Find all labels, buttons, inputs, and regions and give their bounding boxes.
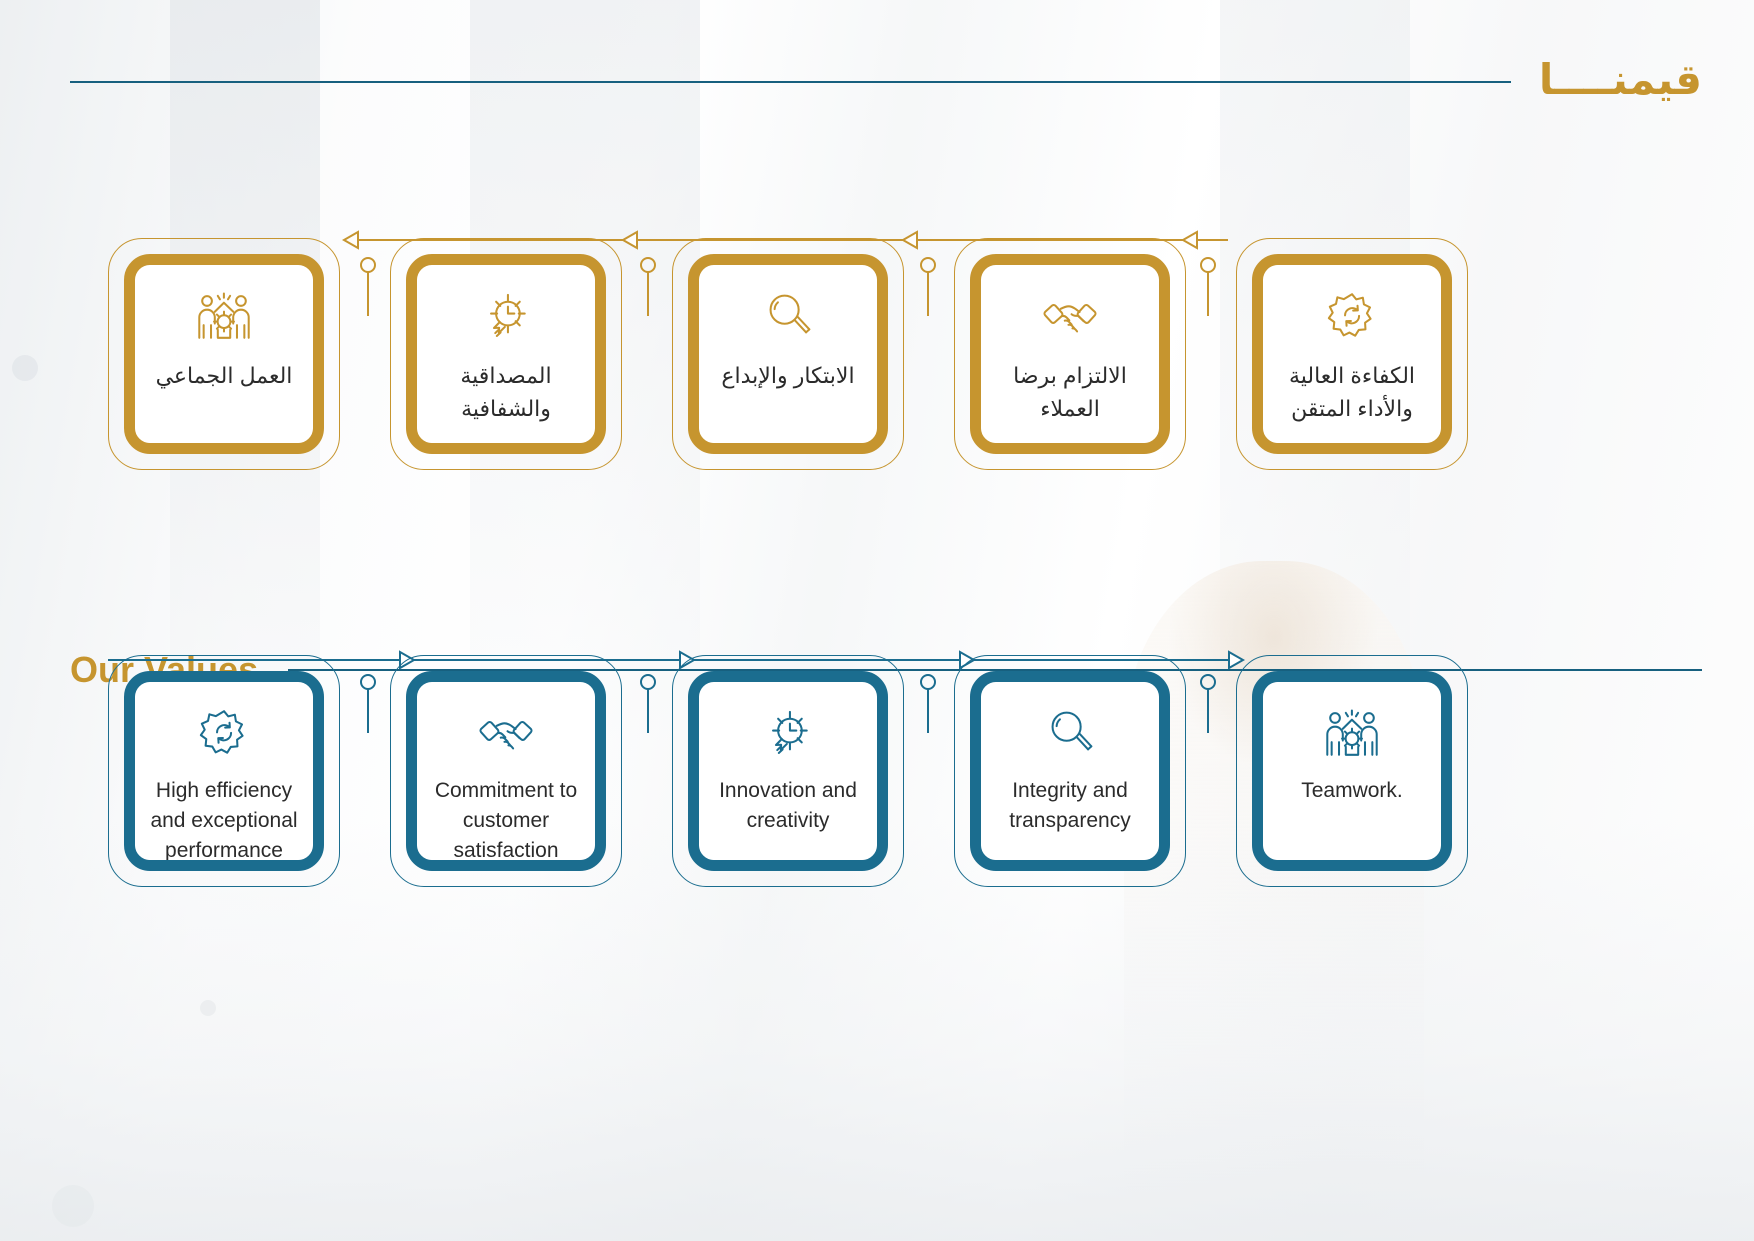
value-card[interactable]: الكفاءة العالية والأداء المتقن	[1236, 238, 1468, 470]
english-values-row: High efficiency and exceptional performa…	[108, 655, 1468, 887]
connector-node	[358, 256, 378, 316]
value-card[interactable]: العمل الجماعي	[108, 238, 340, 470]
connector-node	[1198, 673, 1218, 733]
value-card-label: العمل الجماعي	[145, 359, 303, 392]
values-slide: قيمنــــا العمل الجماعيالمصداقية والشفاف…	[0, 0, 1754, 1241]
connector-node	[918, 673, 938, 733]
connector-node	[1198, 256, 1218, 316]
background-column-left	[170, 0, 320, 1241]
background-wash	[0, 0, 1754, 1241]
value-card[interactable]: Commitment to customer satisfaction	[390, 655, 622, 887]
handshake-icon	[475, 702, 537, 764]
magnifier-icon	[1039, 702, 1101, 764]
card-content: المصداقية والشفافية	[417, 265, 595, 443]
arabic-section-header: قيمنــــا	[70, 52, 1702, 112]
card-content: Innovation and creativity	[699, 682, 877, 860]
connector-node	[638, 256, 658, 316]
value-card[interactable]: High efficiency and exceptional performa…	[108, 655, 340, 887]
gear-icon	[193, 702, 255, 764]
connector-node	[638, 673, 658, 733]
card-content: Commitment to customer satisfaction	[417, 682, 595, 860]
card-content: العمل الجماعي	[135, 265, 313, 443]
arabic-header-rule	[70, 81, 1511, 83]
value-card[interactable]: Teamwork.	[1236, 655, 1468, 887]
lightbulb-icon	[475, 285, 537, 347]
handshake-icon	[1039, 285, 1101, 347]
card-content: Integrity and transparency	[981, 682, 1159, 860]
background-dot-3	[200, 1000, 216, 1016]
connector-node	[358, 673, 378, 733]
arabic-page-title: قيمنــــا	[1539, 59, 1702, 105]
value-card-label: Innovation and creativity	[709, 776, 867, 836]
arabic-values-row: العمل الجماعيالمصداقية والشفافيةالابتكار…	[108, 238, 1468, 470]
value-card-label: الابتكار والإبداع	[709, 359, 867, 392]
value-card-label: Integrity and transparency	[991, 776, 1149, 836]
teamwork-icon	[193, 285, 255, 347]
gear-icon	[1321, 285, 1383, 347]
card-content: الكفاءة العالية والأداء المتقن	[1263, 265, 1441, 443]
background-column-mid	[470, 0, 700, 1241]
value-card-label: High efficiency and exceptional performa…	[145, 776, 303, 860]
background-dot-2	[52, 1185, 94, 1227]
value-card[interactable]: Integrity and transparency	[954, 655, 1186, 887]
background-column-right	[1220, 0, 1410, 1241]
value-card[interactable]: الالتزام برضا العملاء	[954, 238, 1186, 470]
teamwork-icon	[1321, 702, 1383, 764]
card-content: Teamwork.	[1263, 682, 1441, 860]
magnifier-icon	[757, 285, 819, 347]
background-dot-1	[12, 355, 38, 381]
value-card-label: الكفاءة العالية والأداء المتقن	[1273, 359, 1431, 425]
value-card-label: المصداقية والشفافية	[427, 359, 585, 425]
value-card-label: الالتزام برضا العملاء	[991, 359, 1149, 425]
value-card[interactable]: المصداقية والشفافية	[390, 238, 622, 470]
value-card[interactable]: الابتكار والإبداع	[672, 238, 904, 470]
value-card[interactable]: Innovation and creativity	[672, 655, 904, 887]
card-content: High efficiency and exceptional performa…	[135, 682, 313, 860]
card-content: الالتزام برضا العملاء	[981, 265, 1159, 443]
value-card-label: Teamwork.	[1273, 776, 1431, 806]
value-card-label: Commitment to customer satisfaction	[427, 776, 585, 860]
card-content: الابتكار والإبداع	[699, 265, 877, 443]
lightbulb-icon	[757, 702, 819, 764]
connector-node	[918, 256, 938, 316]
